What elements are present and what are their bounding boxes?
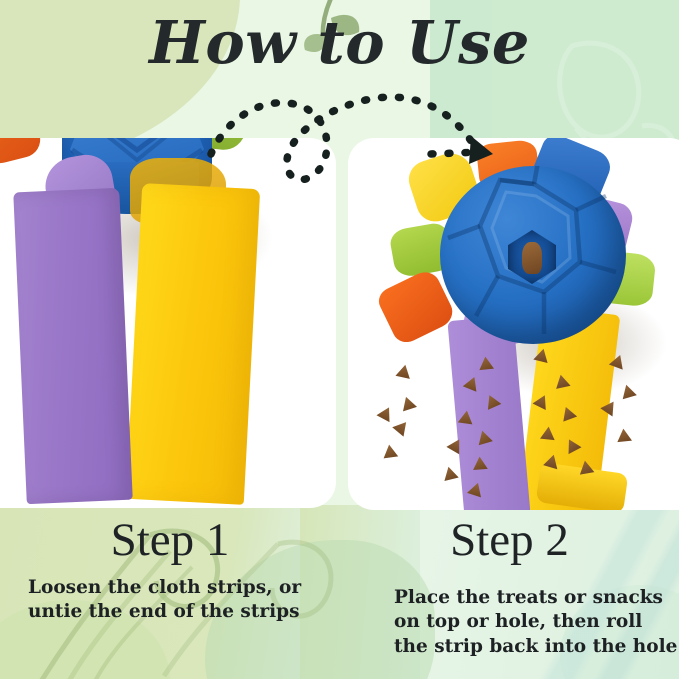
step-2-photo-card (348, 138, 679, 510)
dashed-looping-arrow (205, 88, 515, 188)
poster-canvas: How to Use (0, 0, 679, 679)
strip-purple (13, 188, 133, 504)
strip-yellow (126, 183, 260, 505)
step-1-heading: Step 1 (0, 517, 340, 564)
treat (398, 394, 418, 412)
toy-nub-orange (0, 138, 44, 170)
step-2-heading: Step 2 (340, 517, 679, 564)
step-1-body: Loosen the cloth strips, or untie the en… (28, 576, 328, 625)
treat (395, 362, 414, 379)
treat (441, 464, 460, 481)
page-title: How to Use (0, 12, 679, 74)
treat (391, 416, 412, 437)
treat (381, 443, 399, 459)
treat (615, 427, 632, 443)
step-2-body: Place the treats or snacks on top or hol… (394, 586, 679, 659)
treat (376, 403, 397, 423)
step-1-photo-card (0, 138, 336, 508)
treat-in-hole (522, 242, 542, 274)
